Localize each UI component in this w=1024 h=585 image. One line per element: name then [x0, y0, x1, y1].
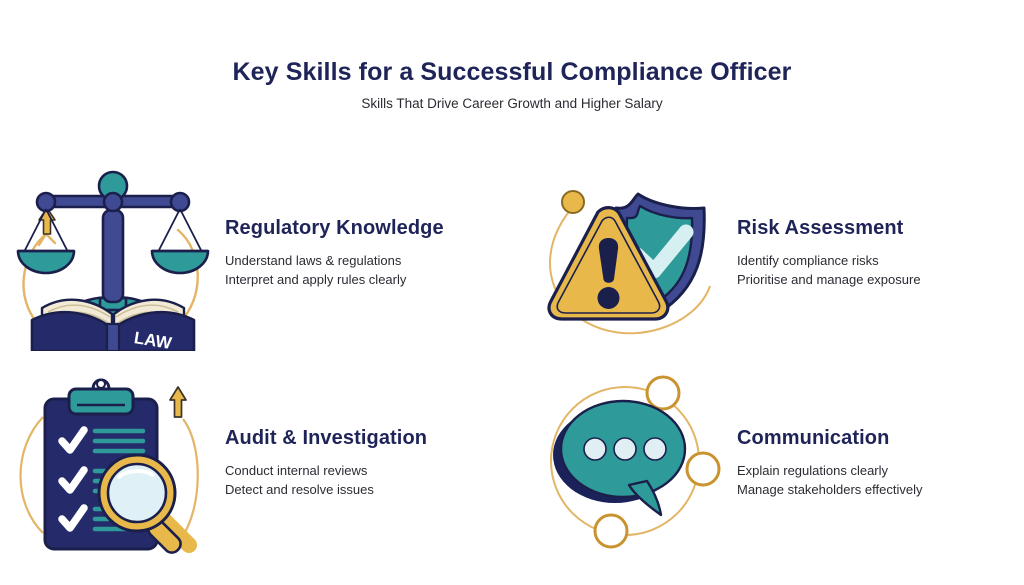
skill-line-2: Detect and resolve issues — [225, 481, 500, 500]
skill-line-2: Prioritise and manage exposure — [737, 271, 1012, 290]
skill-card-text: Risk Assessment Identify compliance risk… — [737, 217, 1024, 290]
skill-title: Risk Assessment — [737, 217, 1012, 239]
skill-card-audit-investigation: Audit & Investigation Conduct internal r… — [0, 358, 512, 568]
infographic-header: Key Skills for a Successful Compliance O… — [0, 0, 1024, 112]
skill-card-text: Regulatory Knowledge Understand laws & r… — [225, 217, 512, 290]
page-title: Key Skills for a Successful Compliance O… — [0, 58, 1024, 87]
shield-check-warning-triangle-icon — [512, 153, 737, 353]
skill-title: Communication — [737, 427, 1012, 449]
skill-card-regulatory-knowledge: LAW Regulatory Knowledge Understand laws… — [0, 148, 512, 358]
scales-of-justice-law-book-icon: LAW — [0, 153, 225, 353]
clipboard-checklist-magnifier-icon — [0, 363, 225, 563]
skill-title: Regulatory Knowledge — [225, 217, 500, 239]
skill-line-1: Understand laws & regulations — [225, 252, 500, 271]
skill-card-text: Audit & Investigation Conduct internal r… — [225, 427, 512, 500]
skill-card-communication: Communication Explain regulations clearl… — [512, 358, 1024, 568]
skill-card-risk-assessment: Risk Assessment Identify compliance risk… — [512, 148, 1024, 358]
skill-line-2: Manage stakeholders effectively — [737, 481, 1012, 500]
skill-title: Audit & Investigation — [225, 427, 500, 449]
skill-line-1: Explain regulations clearly — [737, 462, 1012, 481]
skill-line-2: Interpret and apply rules clearly — [225, 271, 500, 290]
skill-card-text: Communication Explain regulations clearl… — [737, 427, 1024, 500]
skills-grid: LAW Regulatory Knowledge Understand laws… — [0, 148, 1024, 568]
skill-line-1: Identify compliance risks — [737, 252, 1012, 271]
skill-line-1: Conduct internal reviews — [225, 462, 500, 481]
speech-bubble-icon — [512, 363, 737, 563]
page-subtitle: Skills That Drive Career Growth and High… — [0, 96, 1024, 112]
